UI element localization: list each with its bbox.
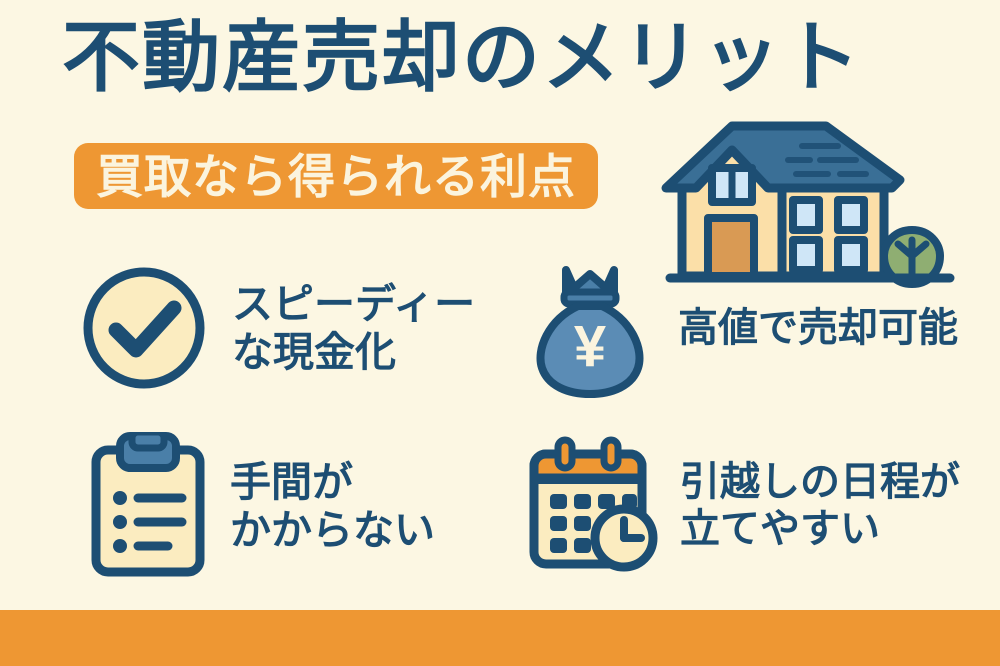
benefit-item-speedy-cash: スピーディー な現金化 <box>78 262 475 394</box>
money-bag-icon: ¥ <box>528 258 652 400</box>
bottom-accent-bar <box>0 610 1000 666</box>
benefit-item-moving-schedule: 引越しの日程が 立てやすい <box>524 436 960 576</box>
house-roof <box>666 126 900 188</box>
infographic-canvas: 不動産売却のメリット 買取なら得られる利点 <box>0 0 1000 666</box>
calendar-clock-icon <box>524 436 660 576</box>
calendar-ring <box>604 440 618 468</box>
check-circle-icon <box>78 262 210 394</box>
benefit-label: 高値で売却可能 <box>678 305 958 352</box>
benefit-item-no-hassle: 手間が かからない <box>88 432 435 580</box>
clipboard-icon <box>88 432 208 580</box>
benefit-label: 手間が かからない <box>230 458 435 555</box>
yen-symbol: ¥ <box>574 314 606 379</box>
benefit-item-high-price: ¥ 高値で売却可能 <box>528 258 958 400</box>
house-window <box>838 200 864 230</box>
benefit-label: スピーディー な現金化 <box>232 280 475 377</box>
badge-label: 買取なら得られる利点 <box>96 153 576 200</box>
page-title: 不動産売却のメリット <box>62 18 862 96</box>
benefit-label: 引越しの日程が 立てやすい <box>680 459 960 553</box>
calendar-header <box>534 454 642 478</box>
house-window <box>793 200 819 230</box>
badge-buyout-benefits: 買取なら得られる利点 <box>74 143 598 209</box>
calendar-ring <box>558 440 572 468</box>
clipboard-bullets <box>113 491 127 553</box>
